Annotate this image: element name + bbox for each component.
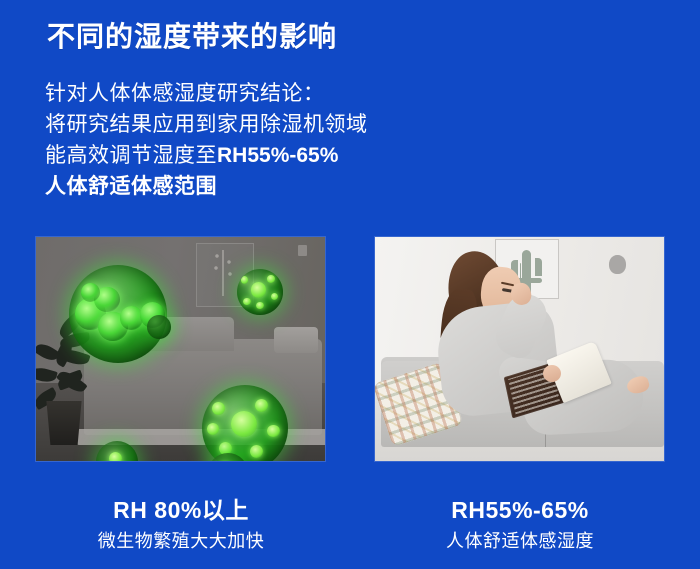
woman-reading <box>415 249 630 439</box>
hand-holding-book <box>543 365 561 382</box>
microbe-spike <box>250 445 263 458</box>
microbe-spike <box>271 293 278 300</box>
intro-line-3-prefix: 能高效调节湿度至 <box>45 144 217 167</box>
microbe-core <box>231 411 257 437</box>
caption-title: RH55%-65% <box>375 495 665 525</box>
humidity-range-emphasis: RH55%-65% <box>217 144 338 167</box>
intro-line-2: 将研究结果应用到家用除湿机领域 <box>45 109 475 140</box>
caption-subtitle: 微生物繁殖大大加快 <box>36 529 326 553</box>
microbe-core <box>251 282 267 298</box>
comparison-photo-row <box>0 237 700 461</box>
caption-subtitle: 人体舒适体感湿度 <box>375 529 665 553</box>
microbe-spike <box>243 298 250 305</box>
intro-copy-block: 针对人体体感湿度研究结论： 将研究结果应用到家用除湿机领域 能高效调节湿度至RH… <box>45 78 475 202</box>
microbe-sphere-small-top <box>237 269 283 315</box>
photo-comfort-humidity <box>375 237 664 461</box>
microbe-spike <box>207 423 219 435</box>
microbe-sphere-large <box>69 265 167 363</box>
intro-line-3: 能高效调节湿度至RH55%-65% <box>45 140 475 171</box>
caption-comfort-humidity: RH55%-65% 人体舒适体感湿度 <box>375 495 665 553</box>
intro-line-1: 针对人体体感湿度研究结论： <box>45 78 475 109</box>
microbe-spike <box>256 302 263 309</box>
dark-room-scene <box>36 237 325 461</box>
microbe-spike <box>212 402 225 415</box>
plant-leaf <box>36 365 58 385</box>
photo-high-humidity <box>36 237 325 461</box>
microbe-core <box>109 452 122 461</box>
microbe-spike <box>267 425 280 438</box>
bright-room-scene <box>375 237 664 461</box>
plant-pot <box>44 401 84 445</box>
caption-high-humidity: RH 80%以上 微生物繁殖大大加快 <box>36 495 326 553</box>
wall-switch <box>298 245 307 256</box>
microbe-sphere-mid <box>147 315 171 339</box>
humidity-comparison-poster: 不同的湿度带来的影响 针对人体体感湿度研究结论： 将研究结果应用到家用除湿机领域… <box>0 0 700 569</box>
microbe-sphere-foreground <box>202 385 288 461</box>
microbe-spike <box>267 275 274 282</box>
intro-line-4: 人体舒适体感范围 <box>45 171 475 202</box>
microbe-spike <box>255 399 268 412</box>
caption-title: RH 80%以上 <box>36 495 326 525</box>
page-title: 不同的湿度带来的影响 <box>47 18 337 56</box>
microbe-spike <box>241 276 248 283</box>
